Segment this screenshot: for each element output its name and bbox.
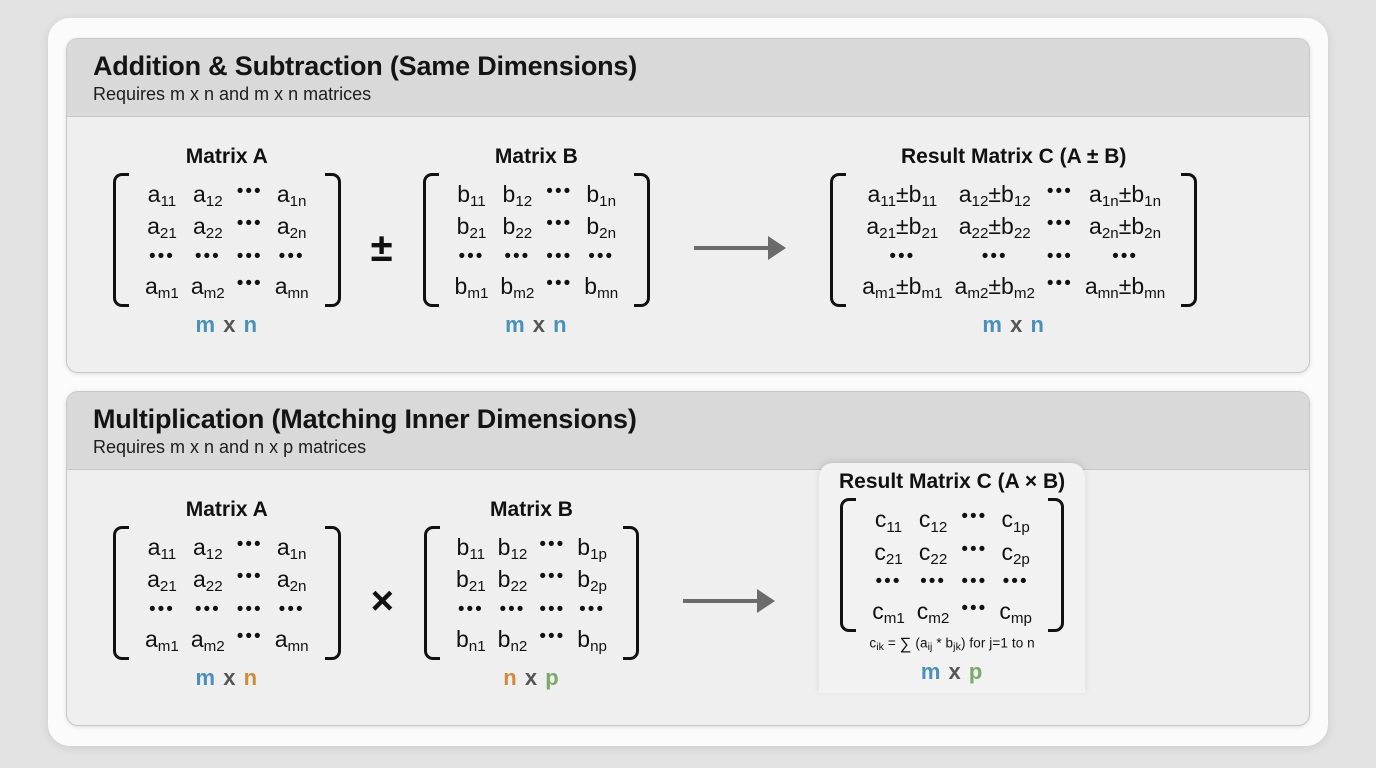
- matrix-cell: c1p: [993, 504, 1038, 534]
- matrix-cell: •••: [571, 597, 613, 622]
- matrix-cell: a11: [139, 532, 185, 562]
- result-matrix-brackets: c11 c12 ••• c1p c21 c22 ••• c2p ••• ••• …: [840, 498, 1064, 632]
- bracket-left-icon: [423, 173, 439, 307]
- matrix-cell: •••: [993, 569, 1038, 594]
- bracket-left-icon: [830, 173, 846, 307]
- section-header: Addition & Subtraction (Same Dimensions)…: [67, 39, 1309, 117]
- matrix-a-block: Matrix A a11 a12 ••• a1n a21 a22 ••• a2n: [113, 145, 341, 338]
- matrix-cell: b21: [449, 211, 495, 241]
- matrix-cell: •••: [231, 244, 269, 269]
- matrix-cell: b12: [492, 532, 534, 562]
- matrix-cell: •••: [231, 597, 269, 622]
- matrix-cell: c21: [866, 537, 911, 567]
- matrix-cell: •••: [139, 244, 185, 269]
- result-matrix-panel: Result Matrix C (A × B) c11 c12 ••• c1p …: [819, 463, 1085, 693]
- matrix-cell: a1n: [269, 179, 315, 209]
- matrix-cell: •••: [955, 596, 993, 626]
- matrix-b-grid: b11 b12 ••• b1n b21 b22 ••• b2n ••• ••• …: [439, 173, 635, 307]
- matrix-b-brackets: b11 b12 ••• b1n b21 b22 ••• b2n ••• ••• …: [423, 173, 651, 307]
- diagram-panel: Addition & Subtraction (Same Dimensions)…: [48, 18, 1328, 746]
- section-title: Addition & Subtraction (Same Dimensions): [93, 51, 1283, 81]
- matrix-cell: •••: [1041, 271, 1079, 301]
- matrix-cell: b2p: [571, 564, 613, 594]
- matrix-cell: •••: [231, 532, 269, 562]
- bracket-left-icon: [113, 526, 129, 660]
- matrix-b-label: Matrix B: [495, 145, 578, 169]
- result-matrix-grid: a11±b11 a12±b12 ••• a1n±b1n a21±b21 a22±…: [846, 173, 1181, 307]
- matrix-cell: a11±b11: [856, 179, 948, 209]
- matrix-cell: •••: [856, 244, 948, 269]
- section-subtitle: Requires m x n and m x n matrices: [93, 84, 1283, 106]
- matrix-a-block: Matrix A a11 a12 ••• a1n a21 a22 ••• a2n: [113, 498, 341, 691]
- matrix-cell: a2n: [269, 564, 315, 594]
- matrix-cell: •••: [139, 597, 185, 622]
- matrix-a-label: Matrix A: [186, 145, 268, 169]
- matrix-cell: a21: [139, 564, 185, 594]
- result-matrix-dimensions: m x p: [921, 659, 984, 685]
- matrix-cell: bmn: [578, 271, 624, 301]
- matrix-cell: amn±bmn: [1079, 271, 1171, 301]
- matrix-cell: a12: [185, 179, 231, 209]
- matrix-cell: a21: [139, 211, 185, 241]
- matrix-b-block: Matrix B b11 b12 ••• b1n b21 b22 ••• b2n: [423, 145, 651, 338]
- matrix-cell: a22±b22: [949, 211, 1041, 241]
- matrix-cell: •••: [231, 211, 269, 241]
- matrix-cell: •••: [533, 624, 571, 654]
- result-matrix-label: Result Matrix C (A ± B): [901, 145, 1126, 169]
- matrix-cell: •••: [955, 537, 993, 567]
- operator-plus-minus: ±: [367, 226, 397, 271]
- matrix-cell: bnp: [571, 624, 613, 654]
- matrix-cell: bn2: [492, 624, 534, 654]
- bracket-left-icon: [840, 498, 856, 632]
- matrix-cell: •••: [540, 271, 578, 301]
- matrix-cell: b2n: [578, 211, 624, 241]
- matrix-cell: •••: [1079, 244, 1171, 269]
- matrix-cell: b21: [450, 564, 492, 594]
- matrix-b-label: Matrix B: [490, 498, 573, 522]
- matrix-cell: •••: [540, 179, 578, 209]
- result-matrix-block: Result Matrix C (A ± B) a11±b11 a12±b12 …: [830, 145, 1197, 338]
- bracket-left-icon: [113, 173, 129, 307]
- matrix-cell: •••: [949, 244, 1041, 269]
- matrix-cell: •••: [540, 244, 578, 269]
- matrix-cell: b1n: [578, 179, 624, 209]
- matrix-cell: •••: [911, 569, 956, 594]
- matrix-cell: bm2: [494, 271, 540, 301]
- matrix-cell: •••: [533, 597, 571, 622]
- matrix-b-brackets: b11 b12 ••• b1p b21 b22 ••• b2p ••• ••• …: [424, 526, 639, 660]
- matrix-cell: •••: [540, 211, 578, 241]
- matrix-cell: am1: [139, 271, 185, 301]
- bracket-right-icon: [634, 173, 650, 307]
- section-title: Multiplication (Matching Inner Dimension…: [93, 404, 1283, 434]
- matrix-cell: a22: [185, 564, 231, 594]
- matrix-a-brackets: a11 a12 ••• a1n a21 a22 ••• a2n ••• ••• …: [113, 173, 341, 307]
- section-header: Multiplication (Matching Inner Dimension…: [67, 392, 1309, 470]
- matrix-cell: •••: [955, 569, 993, 594]
- section-addition-subtraction: Addition & Subtraction (Same Dimensions)…: [66, 38, 1310, 373]
- matrix-cell: •••: [231, 179, 269, 209]
- matrix-cell: am1: [139, 624, 185, 654]
- matrix-cell: c2p: [993, 537, 1038, 567]
- matrix-a-grid: a11 a12 ••• a1n a21 a22 ••• a2n ••• ••• …: [129, 526, 325, 660]
- matrix-cell: b11: [449, 179, 495, 209]
- section-multiplication: Multiplication (Matching Inner Dimension…: [66, 391, 1310, 726]
- matrix-cell: •••: [185, 244, 231, 269]
- matrix-b-grid: b11 b12 ••• b1p b21 b22 ••• b2p ••• ••• …: [440, 526, 623, 660]
- matrix-a-label: Matrix A: [186, 498, 268, 522]
- arrow-right-icon: [683, 589, 775, 613]
- bracket-left-icon: [424, 526, 440, 660]
- matrix-cell: c11: [866, 504, 911, 534]
- matrix-cell: •••: [955, 504, 993, 534]
- matrix-cell: b1p: [571, 532, 613, 562]
- matrix-cell: a2n±b2n: [1079, 211, 1171, 241]
- matrix-cell: c12: [911, 504, 956, 534]
- matrix-cell: b22: [494, 211, 540, 241]
- matrix-cell: •••: [533, 532, 571, 562]
- matrix-cell: b12: [494, 179, 540, 209]
- matrix-cell: •••: [269, 244, 315, 269]
- matrix-cell: a21±b21: [856, 211, 948, 241]
- bracket-right-icon: [1181, 173, 1197, 307]
- result-matrix-grid: c11 c12 ••• c1p c21 c22 ••• c2p ••• ••• …: [856, 498, 1048, 632]
- matrix-cell: amn: [269, 624, 315, 654]
- matrix-b-block: Matrix B b11 b12 ••• b1p b21 b22 ••• b2p: [424, 498, 639, 691]
- matrix-cell: •••: [231, 271, 269, 301]
- matrix-cell: am1±bm1: [856, 271, 948, 301]
- matrix-cell: •••: [269, 597, 315, 622]
- result-matrix-label: Result Matrix C (A × B): [839, 470, 1065, 494]
- matrix-cell: bn1: [450, 624, 492, 654]
- matrix-cell: •••: [231, 564, 269, 594]
- operator-multiply: ×: [367, 579, 398, 624]
- matrix-cell: •••: [231, 624, 269, 654]
- matrix-cell: a1n: [269, 532, 315, 562]
- matrix-cell: cm2: [911, 596, 956, 626]
- matrix-cell: cmp: [993, 596, 1038, 626]
- bracket-right-icon: [325, 526, 341, 660]
- matrix-cell: •••: [494, 244, 540, 269]
- matrix-cell: •••: [450, 597, 492, 622]
- matrix-cell: bm1: [449, 271, 495, 301]
- matrix-cell: a12: [185, 532, 231, 562]
- matrix-cell: •••: [1041, 211, 1079, 241]
- matrix-b-dimensions: n x p: [503, 665, 559, 691]
- matrix-a-grid: a11 a12 ••• a1n a21 a22 ••• a2n ••• ••• …: [129, 173, 325, 307]
- matrix-cell: •••: [578, 244, 624, 269]
- matrix-cell: c22: [911, 537, 956, 567]
- matrix-a-dimensions: m x n: [196, 665, 259, 691]
- matrix-cell: •••: [1041, 179, 1079, 209]
- matrix-cell: •••: [492, 597, 534, 622]
- matrix-cell: a2n: [269, 211, 315, 241]
- matrix-b-dimensions: m x n: [505, 312, 568, 338]
- matrix-cell: b11: [450, 532, 492, 562]
- matrix-cell: •••: [1041, 244, 1079, 269]
- matrix-cell: •••: [449, 244, 495, 269]
- matrix-cell: b22: [492, 564, 534, 594]
- section-subtitle: Requires m x n and n x p matrices: [93, 437, 1283, 459]
- result-matrix-brackets: a11±b11 a12±b12 ••• a1n±b1n a21±b21 a22±…: [830, 173, 1197, 307]
- matrix-a-brackets: a11 a12 ••• a1n a21 a22 ••• a2n ••• ••• …: [113, 526, 341, 660]
- result-matrix-dimensions: m x n: [982, 312, 1045, 338]
- multiplication-formula: cik = ∑ (aij * bjk) for j=1 to n: [869, 635, 1034, 654]
- matrix-cell: a22: [185, 211, 231, 241]
- arrow-right-icon: [694, 236, 786, 260]
- matrix-cell: am2: [185, 624, 231, 654]
- matrix-cell: am2: [185, 271, 231, 301]
- matrix-cell: a11: [139, 179, 185, 209]
- matrix-cell: amn: [269, 271, 315, 301]
- bracket-right-icon: [1048, 498, 1064, 632]
- section-body: Matrix A a11 a12 ••• a1n a21 a22 ••• a2n: [67, 117, 1309, 372]
- matrix-cell: •••: [533, 564, 571, 594]
- matrix-cell: •••: [866, 569, 911, 594]
- matrix-cell: cm1: [866, 596, 911, 626]
- matrix-cell: a1n±b1n: [1079, 179, 1171, 209]
- matrix-cell: a12±b12: [949, 179, 1041, 209]
- bracket-right-icon: [623, 526, 639, 660]
- diagram-stage: Addition & Subtraction (Same Dimensions)…: [0, 0, 1376, 768]
- section-body: Matrix A a11 a12 ••• a1n a21 a22 ••• a2n: [67, 470, 1309, 725]
- matrix-cell: •••: [185, 597, 231, 622]
- matrix-cell: am2±bm2: [949, 271, 1041, 301]
- matrix-a-dimensions: m x n: [196, 312, 259, 338]
- bracket-right-icon: [325, 173, 341, 307]
